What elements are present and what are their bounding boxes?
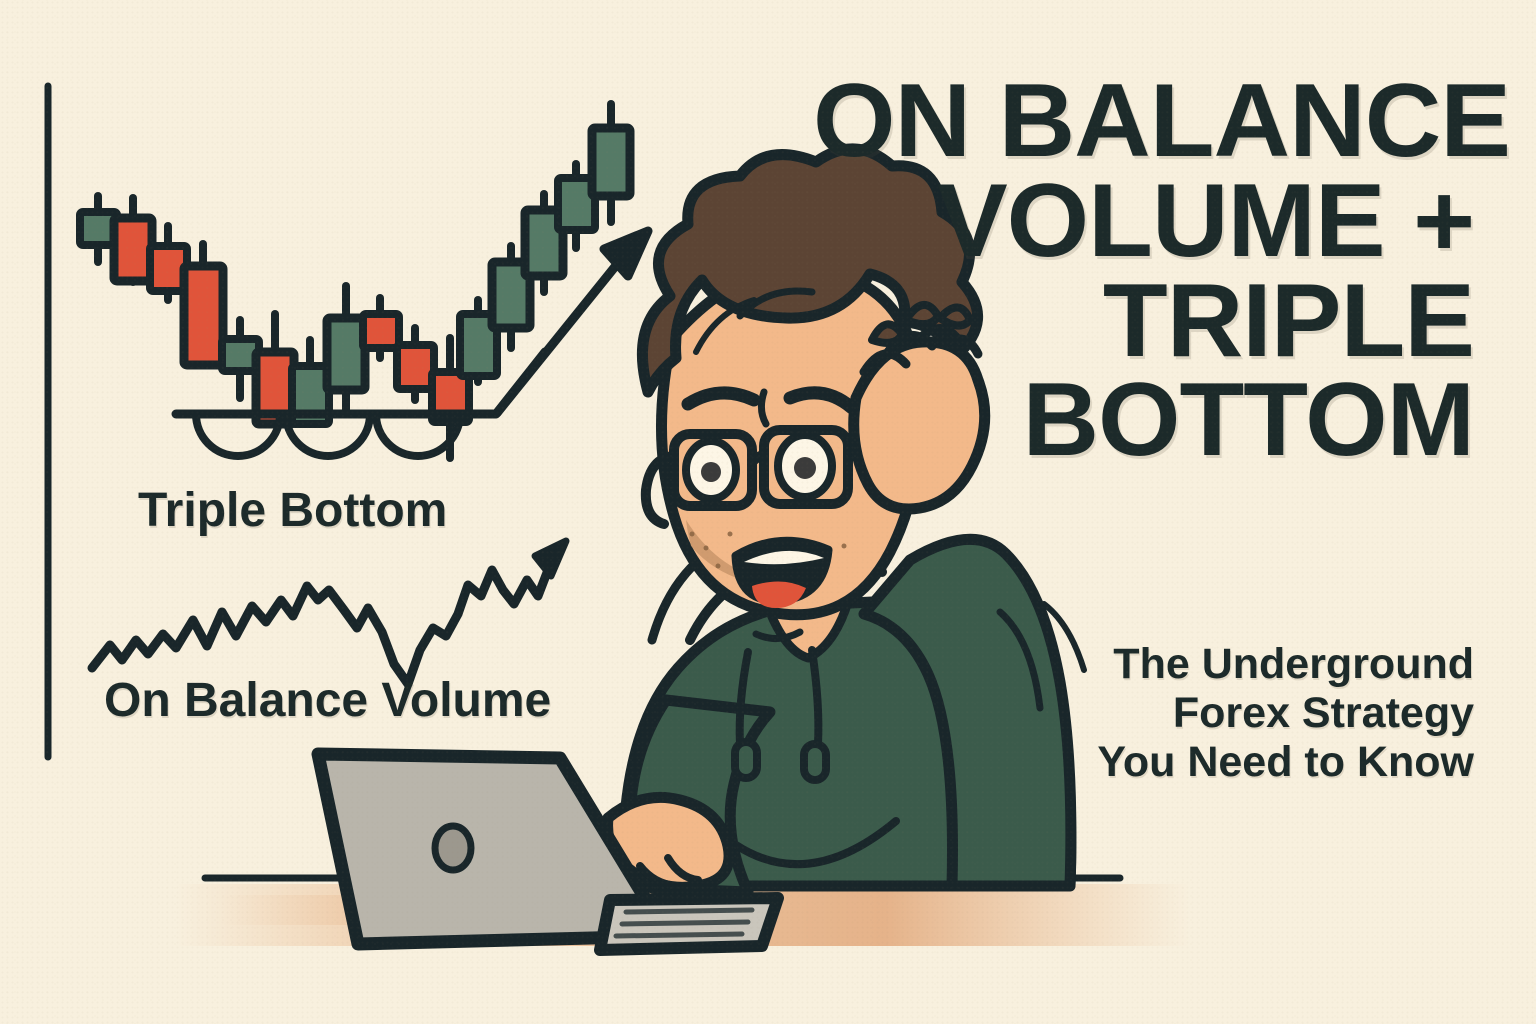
obv-line bbox=[92, 541, 566, 684]
title-line-2: VOLUME + bbox=[813, 172, 1474, 272]
page-title: ON BALANCE VOLUME + TRIPLE BOTTOM bbox=[813, 72, 1474, 471]
laptop-logo bbox=[435, 826, 471, 870]
candlestick-series bbox=[80, 104, 630, 458]
page-subtitle: The Underground Forex Strategy You Need … bbox=[1000, 640, 1474, 787]
title-line-3: TRIPLE bbox=[813, 272, 1474, 372]
candle-4 bbox=[184, 244, 223, 365]
poster-canvas: ON BALANCE VOLUME + TRIPLE BOTTOM The Un… bbox=[0, 0, 1536, 1024]
subtitle-line-3: You Need to Know bbox=[1000, 738, 1474, 787]
title-line-1: ON BALANCE bbox=[813, 72, 1474, 172]
subtitle-line-1: The Underground bbox=[1000, 640, 1474, 689]
title-line-4: BOTTOM bbox=[813, 371, 1474, 471]
label-triple-bottom: Triple Bottom bbox=[138, 483, 447, 538]
label-on-balance-volume: On Balance Volume bbox=[104, 673, 551, 728]
subtitle-line-2: Forex Strategy bbox=[1000, 689, 1474, 738]
candle-8 bbox=[327, 286, 365, 410]
